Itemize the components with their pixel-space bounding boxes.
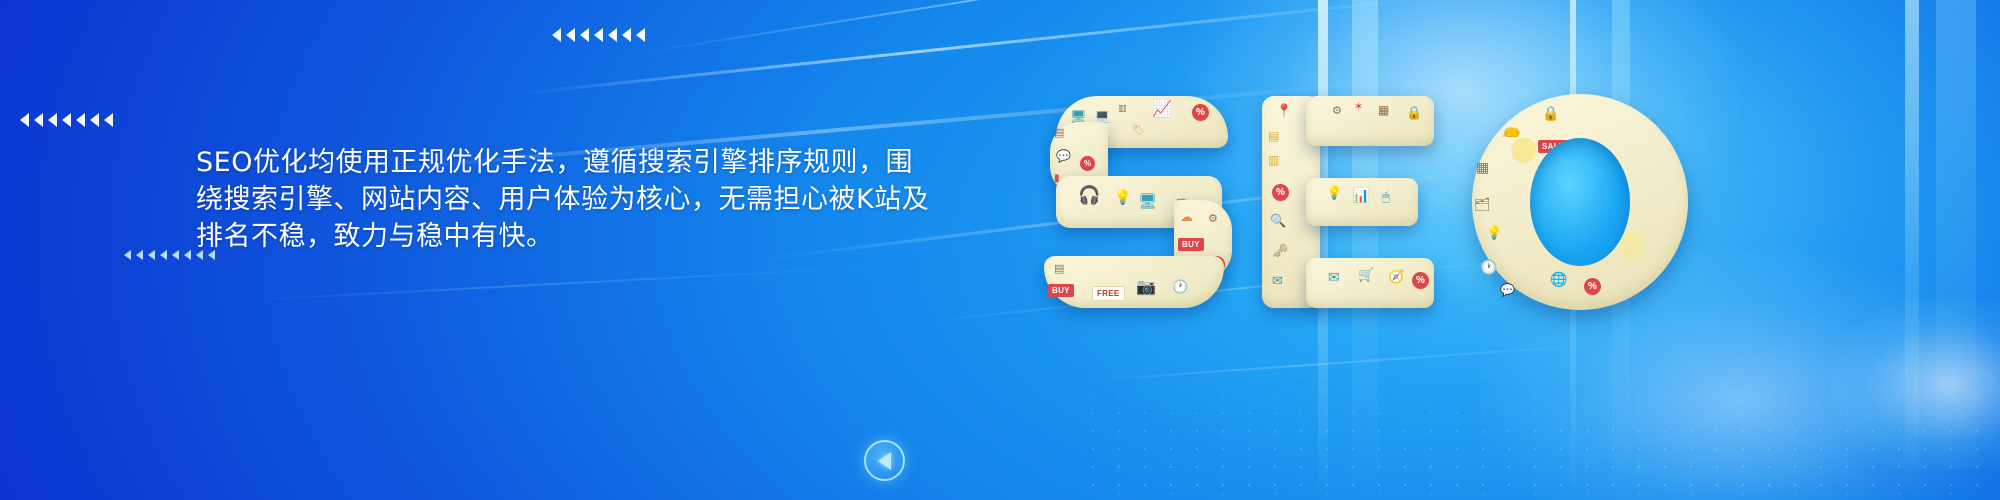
lightbulb-icon: 💡 [1486,226,1502,239]
light-ray-6 [1080,344,1599,382]
tag-icon: 🏷 [1132,126,1145,136]
cloud-icon: ☁ [1180,210,1193,223]
letter-e-top-bar: ⚙ ✶ ▦ 🔒 [1306,96,1434,146]
arrow-left-icon [878,452,891,470]
lightbulb-icon: 💡 [1326,186,1342,199]
bar-chart-icon: 📊 [1352,188,1369,202]
speech-bubble-icon: 💬 [1500,284,1515,296]
location-pin-icon: 📍 [1276,104,1292,117]
letter-o-counter [1530,138,1630,266]
letter-e-bottom-bar: ✉ 🛒 🧭 % [1306,258,1434,308]
buy-badge: BUY [1178,238,1204,251]
lock-icon: 🔒 [1406,106,1422,119]
books-icon: ▤ [1054,128,1064,139]
chevron-left-group-left [20,113,113,127]
percent-badge-icon: % [1192,104,1209,121]
perspective-dot-grid [1080,350,2000,500]
percent-badge-icon: % [1272,184,1289,201]
letter-o: 🔒 👝 SALE ▦ 🗂 💡 🕐 💬 🚀 🛒 🔗 ☁ 🌐 % [1472,94,1688,310]
free-badge: FREE [1092,286,1125,301]
banner-copy: SEO优化均使用正规优化手法，遵循搜索引擎排序规则，围 绕搜索引擎、网站内容、用… [196,144,956,255]
percent-badge-icon: % [1412,272,1429,289]
chevron-left-group-top [552,28,645,42]
magnifier-icon: 🔍 [1270,214,1286,227]
table-icon: ▦ [1378,104,1389,116]
headphones-icon: 🎧 [1078,186,1100,204]
copy-line-2: 绕搜索引擎、网站内容、用户体验为核心，无需担心被K站及 [196,181,956,218]
light-ray-1 [520,0,1415,95]
copy-line-3: 排名不稳，致力与稳中有快。 [196,218,956,255]
light-column-6 [1936,0,1976,500]
key-icon: 🗝 [1272,244,1289,257]
sale-badge-icon: % [1080,156,1095,171]
seo-banner: SEO优化均使用正规优化手法，遵循搜索引擎排序规则，围 绕搜索引擎、网站内容、用… [0,0,2000,500]
camera-icon: 📷 [1136,280,1156,296]
letter-e: 📍 ▤ ▥ % 🔍 🗝 ✉ ⚙ ✶ ▦ 🔒 💡 📊 🖱 ✉ � [1262,96,1434,308]
glow-bottom-right [1830,300,2000,470]
light-ray-2 [640,0,1450,54]
letter-e-middle-bar: 💡 📊 🖱 [1306,178,1418,226]
laptop-icon: 💻 [1094,109,1110,122]
buy-badge: BUY [1048,284,1074,297]
chart-line-icon: 📈 [1152,102,1172,118]
clock-icon: 🕐 [1480,260,1497,274]
devices-icon: 🖥 [1138,194,1157,209]
star-icon: ✶ [1354,102,1363,113]
sitemap-icon: 🗂 [1474,198,1491,211]
letter-o-ring: 🔒 👝 SALE ▦ 🗂 💡 🕐 💬 🚀 🛒 🔗 ☁ 🌐 % [1472,94,1688,310]
barcode-icon: ▥ [1118,104,1127,113]
envelope-icon: ✉ [1328,270,1340,284]
envelope-icon: ✉ [1272,274,1283,287]
copy-line-1: SEO优化均使用正规优化手法，遵循搜索引擎排序规则，围 [196,144,956,181]
calculator-icon: ▤ [1268,130,1279,142]
back-button[interactable] [864,440,905,481]
table-icon: ▦ [1476,160,1489,174]
speech-bubble-icon: 💬 [1056,150,1071,162]
books-icon: ▤ [1054,264,1064,275]
globe-icon: 🌐 [1550,272,1567,286]
light-ray-7 [230,267,869,302]
letter-s: 🖥 💻 ▥ 📈 % 🏷 ▤ 💬 % ▮ 🎧 💡 🖥 ▥ ☁ [1040,96,1236,308]
books-icon: ▥ [1268,154,1279,166]
lightbulb-icon: 💡 [1114,190,1131,204]
percent-badge-icon: % [1584,278,1601,295]
cursor-click-icon: 🖱 [1382,190,1390,203]
gear-icon: ⚙ [1332,106,1342,117]
clock-icon: 🕐 [1172,280,1188,293]
gear-icon: ⚙ [1208,214,1218,225]
wallet-icon: 👝 [1502,122,1521,137]
lock-icon: 🔒 [1542,106,1559,120]
seo-letters-artwork: 🖥 💻 ▥ 📈 % 🏷 ▤ 💬 % ▮ 🎧 💡 🖥 ▥ ☁ [1040,92,1740,312]
letter-s-segment-bottom: ▤ BUY FREE 📷 🕐 [1044,256,1224,308]
light-column-5 [1905,0,1919,500]
shopping-cart-icon: 🛒 [1358,268,1374,281]
compass-icon: 🧭 [1388,270,1404,283]
